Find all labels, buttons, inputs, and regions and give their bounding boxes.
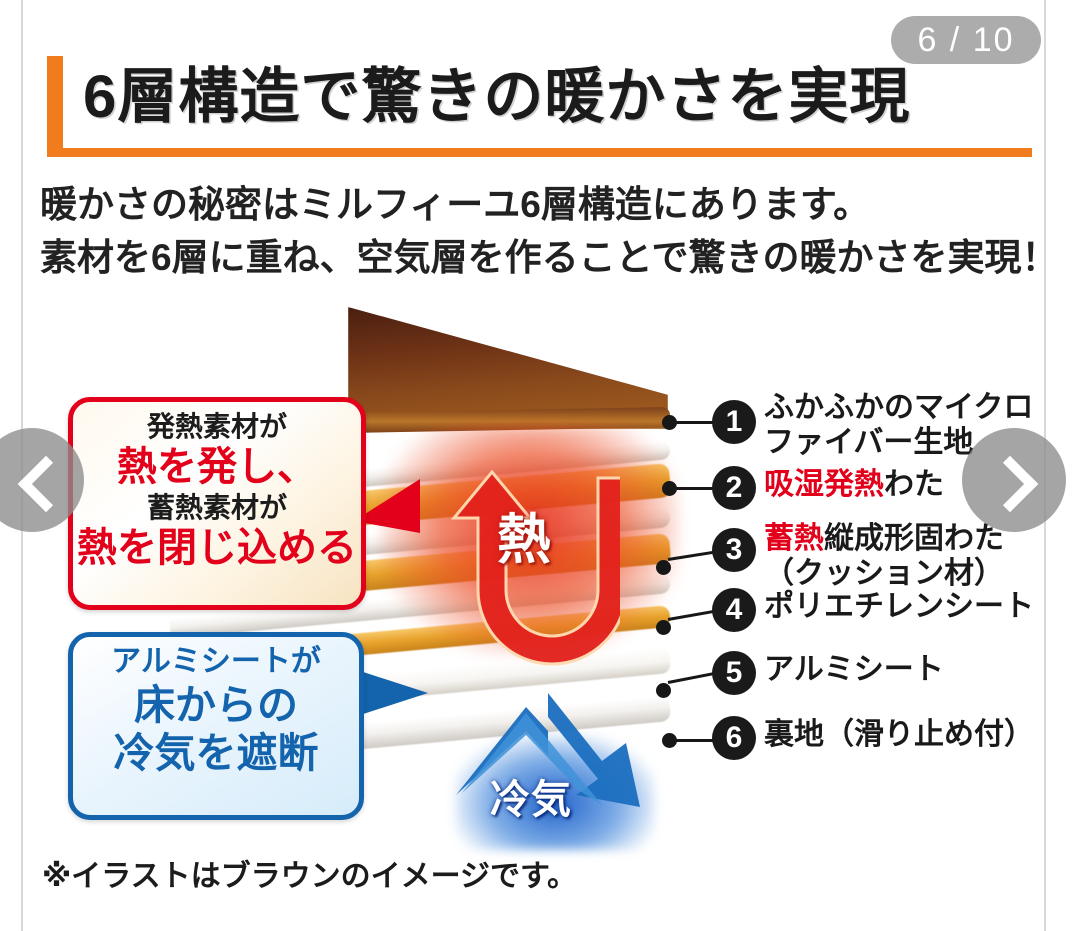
callout-cold-line-1: アルミシートが bbox=[73, 643, 359, 681]
legend-label-3-text: 縦成形固わた bbox=[824, 522, 1004, 555]
legend-label-3b-text: （クッション材） bbox=[764, 557, 1004, 590]
legend-number-1: 1 bbox=[712, 400, 756, 444]
title-accent-bar-vertical bbox=[47, 56, 63, 156]
lead-line-2: 素材を6層に重ね、空気層を作ることで驚きの暖かさを実現！ bbox=[40, 231, 1030, 284]
callout-heat-line-2: 熱を発し、 bbox=[73, 444, 361, 491]
legend-number-3: 3 bbox=[712, 528, 756, 572]
legend-number-5: 5 bbox=[712, 651, 756, 695]
product-feature-slide: 6 / 10 6層構造で驚きの暖かさを実現 暖かさの秘密はミルフィーユ6層構造に… bbox=[0, 0, 1080, 931]
callout-heat: 発熱素材が 熱を発し、 蓄熱素材が 熱を閉じ込める bbox=[68, 397, 366, 610]
legend-label-1a-text: ふかふかのマイクロ bbox=[764, 391, 1033, 424]
callout-heat-line-1: 発熱素材が bbox=[73, 410, 361, 444]
heat-label: 熱 bbox=[497, 495, 552, 574]
callout-cold-line-3: 冷気を遮断 bbox=[73, 729, 359, 777]
lead-paragraph: 暖かさの秘密はミルフィーユ6層構造にあります。 素材を6層に重ね、空気層を作るこ… bbox=[40, 178, 1030, 284]
callout-heat-line-4: 熱を閉じ込める bbox=[73, 525, 361, 572]
legend-number-6: 6 bbox=[712, 716, 756, 760]
callout-heat-line-3: 蓄熱素材が bbox=[73, 491, 361, 525]
legend-label-1b-text: ファイバー生地 bbox=[764, 426, 973, 459]
leader-dot-3 bbox=[656, 560, 671, 575]
legend-label-2: 吸湿発熱わた bbox=[764, 467, 944, 502]
legend-label-3-highlight: 蓄熱 bbox=[764, 522, 824, 555]
legend-label-6: 裏地（滑り止め付） bbox=[764, 717, 1034, 752]
legend-label-6-text: 裏地（滑り止め付） bbox=[764, 718, 1034, 751]
page-title-block: 6層構造で驚きの暖かさを実現 bbox=[47, 56, 1032, 158]
callout-cold: アルミシートが 床からの 冷気を遮断 bbox=[68, 632, 364, 820]
footnote: ※イラストはブラウンのイメージです。 bbox=[42, 851, 577, 895]
legend-label-1a: ふかふかのマイクロ bbox=[764, 390, 1033, 425]
legend-label-4-text: ポリエチレンシート bbox=[764, 590, 1034, 623]
page-title: 6層構造で驚きの暖かさを実現 bbox=[83, 48, 910, 135]
title-accent-bar-horizontal bbox=[47, 148, 1032, 157]
cold-pointer-arrow-icon bbox=[352, 663, 432, 723]
legend-label-3a: 蓄熱縦成形固わた bbox=[764, 521, 1004, 556]
leader-dot-4 bbox=[656, 620, 671, 635]
legend-label-5-text: アルミシート bbox=[764, 653, 944, 686]
legend-label-3b: （クッション材） bbox=[764, 556, 1004, 591]
callout-cold-line-2: 床からの bbox=[73, 681, 359, 729]
legend-number-4: 4 bbox=[712, 588, 756, 632]
legend-label-5: アルミシート bbox=[764, 652, 944, 687]
legend-label-4: ポリエチレンシート bbox=[764, 589, 1034, 624]
chevron-left-icon bbox=[18, 456, 75, 513]
legend-label-1b: ファイバー生地 bbox=[764, 425, 973, 460]
lead-line-1: 暖かさの秘密はミルフィーユ6層構造にあります。 bbox=[40, 178, 1030, 231]
legend-label-2-highlight: 吸湿発熱 bbox=[764, 468, 884, 501]
leader-dot-5 bbox=[656, 683, 671, 698]
cold-label: 冷気 bbox=[490, 767, 572, 825]
legend-number-2: 2 bbox=[712, 466, 756, 510]
chevron-right-icon bbox=[982, 456, 1039, 513]
legend-label-2-text: わた bbox=[884, 468, 944, 501]
carousel-next-button[interactable] bbox=[962, 428, 1066, 532]
